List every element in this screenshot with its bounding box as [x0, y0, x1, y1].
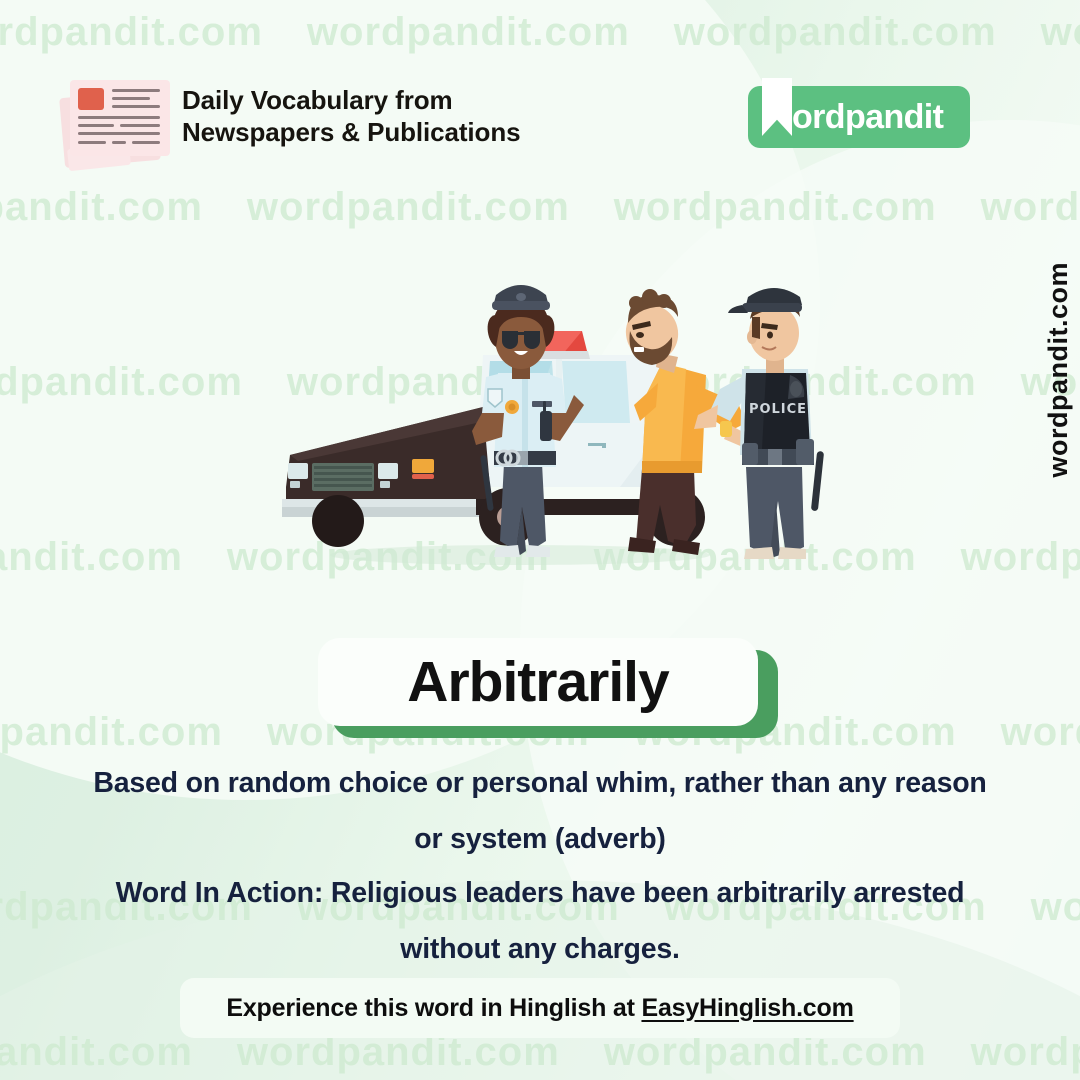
page-title-line2: Newspapers & Publications [182, 116, 520, 148]
brand-logo-text: ordpandit [792, 98, 943, 137]
vocabulary-word: Arbitrarily [407, 649, 668, 715]
definition-line1: Based on random choice or personal whim,… [0, 756, 1080, 812]
word-card: Arbitrarily [318, 638, 778, 738]
definition-line2: or system (adverb) [0, 812, 1080, 868]
police-arrest-illustration: POLICE [190, 255, 890, 635]
example-line2: without any charges. [0, 922, 1080, 978]
bookmark-icon [762, 78, 792, 136]
wordpandit-logo[interactable]: ordpandit [748, 86, 970, 148]
officer-two: POLICE [694, 288, 824, 559]
vertical-site-text: wordpandit.com [1043, 262, 1074, 478]
hinglish-cta-prefix: Experience this word in Hinglish at [226, 994, 641, 1022]
word-in-action-text: Word In Action: Religious leaders have b… [0, 866, 1080, 977]
page-title: Daily Vocabulary from Newspapers & Publi… [182, 84, 520, 148]
hinglish-cta-text: Experience this word in Hinglish at Easy… [226, 994, 853, 1023]
page-title-line1: Daily Vocabulary from [182, 84, 520, 116]
newspaper-icon [58, 72, 176, 168]
word-card-face: Arbitrarily [318, 638, 758, 726]
vocabulary-infographic: wordpandit.comwordpandit.comwordpandit.c… [0, 0, 1080, 1080]
header: Daily Vocabulary from Newspapers & Publi… [0, 0, 1080, 190]
hinglish-cta-banner[interactable]: Experience this word in Hinglish at Easy… [180, 978, 900, 1038]
svg-text:POLICE: POLICE [749, 402, 807, 417]
definition-text: Based on random choice or personal whim,… [0, 756, 1080, 867]
easyhinglish-link[interactable]: EasyHinglish.com [641, 994, 853, 1022]
example-line1: Word In Action: Religious leaders have b… [0, 866, 1080, 922]
